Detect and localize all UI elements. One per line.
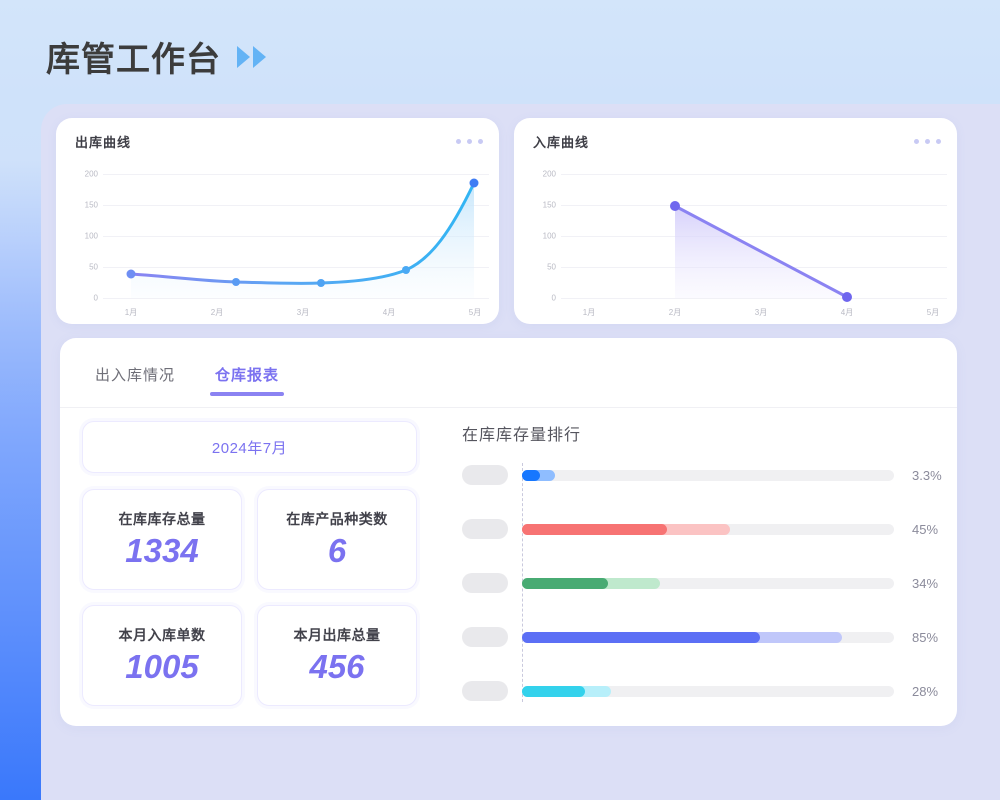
page-title: 库管工作台 (46, 32, 266, 81)
stat-card-product-types[interactable]: 在库产品种类数 6 (257, 489, 417, 590)
stat-label: 本月入库单数 (119, 625, 206, 645)
stat-label: 本月出库总量 (294, 625, 381, 645)
x-tick-2: 2月 (660, 307, 690, 318)
ranking-label-placeholder (462, 519, 508, 539)
double-chevron-right-icon (237, 46, 266, 68)
tab-bar: 出入库情况 仓库报表 (95, 364, 279, 396)
outbound-line-svg (56, 156, 499, 324)
ranking-label-placeholder (462, 681, 508, 701)
ranking-label-placeholder (462, 627, 508, 647)
chart-plot-outbound: 200 150 100 50 0 (56, 156, 499, 324)
left-accent-strip (0, 0, 41, 800)
stat-card-outbound-total[interactable]: 本月出库总量 456 (257, 605, 417, 706)
x-tick-2: 2月 (202, 307, 232, 318)
x-tick-1: 1月 (574, 307, 604, 318)
ranking-bar-solid (522, 470, 540, 481)
ranking-bar-track (522, 578, 894, 589)
report-panel: 出入库情况 仓库报表 2024年7月 在库库存总量 1334 在库产品种类数 6 (60, 338, 957, 726)
dashboard-shell: 出库曲线 200 150 100 50 0 (41, 104, 1000, 800)
ranking-percent: 3.3% (912, 468, 942, 483)
report-left-column: 2024年7月 在库库存总量 1334 在库产品种类数 6 本月入库单数 100… (82, 421, 437, 706)
ranking-bar-solid (522, 632, 760, 643)
ranking-bar-track (522, 524, 894, 535)
ranking-percent: 85% (912, 630, 938, 645)
chart-plot-inbound: 200 150 100 50 0 1月 (514, 156, 957, 324)
stat-card-grid: 在库库存总量 1334 在库产品种类数 6 本月入库单数 1005 本月出库总量… (82, 489, 417, 706)
ranking-bar-solid (522, 524, 667, 535)
ranking-bar-track (522, 632, 894, 643)
stat-value: 1005 (125, 649, 198, 685)
ranking-percent: 28% (912, 684, 938, 699)
stat-card-inbound-orders[interactable]: 本月入库单数 1005 (82, 605, 242, 706)
ranking-label-placeholder (462, 573, 508, 593)
x-tick-4: 4月 (832, 307, 862, 318)
stat-card-total-stock[interactable]: 在库库存总量 1334 (82, 489, 242, 590)
tab-inout-status[interactable]: 出入库情况 (95, 364, 175, 396)
stat-label: 在库产品种类数 (286, 509, 388, 529)
ranking-row[interactable]: 45% (462, 517, 937, 541)
more-dots-icon[interactable] (456, 139, 483, 144)
ranking-bar-solid (522, 578, 608, 589)
ranking-percent: 34% (912, 576, 938, 591)
stat-label: 在库库存总量 (119, 509, 206, 529)
ranking-title: 在库库存量排行 (462, 421, 937, 445)
ranking-bar-solid (522, 686, 585, 697)
stat-value: 456 (309, 649, 364, 685)
chart-title-outbound: 出库曲线 (75, 132, 131, 151)
tab-warehouse-report[interactable]: 仓库报表 (215, 364, 279, 396)
more-dots-icon[interactable] (914, 139, 941, 144)
inventory-ranking-section: 在库库存量排行 3.3% 45% (462, 421, 937, 733)
ranking-label-placeholder (462, 465, 508, 485)
chart-title-inbound: 入库曲线 (533, 132, 589, 151)
x-tick-5: 5月 (460, 307, 490, 318)
tab-divider (60, 407, 957, 408)
x-tick-4: 4月 (374, 307, 404, 318)
ranking-percent: 45% (912, 522, 938, 537)
ranking-bar-track (522, 470, 894, 481)
chart-header-outbound: 出库曲线 (75, 132, 483, 151)
stat-value: 6 (328, 533, 346, 569)
chart-header-inbound: 入库曲线 (533, 132, 941, 151)
inbound-line-svg (514, 156, 957, 324)
ranking-row[interactable]: 85% (462, 625, 937, 649)
stat-value: 1334 (125, 533, 198, 569)
chart-card-outbound: 出库曲线 200 150 100 50 0 (56, 118, 499, 324)
x-tick-1: 1月 (116, 307, 146, 318)
x-tick-5: 5月 (918, 307, 948, 318)
chart-card-inbound: 入库曲线 200 150 100 50 0 (514, 118, 957, 324)
ranking-row[interactable]: 28% (462, 679, 937, 703)
x-tick-3: 3月 (288, 307, 318, 318)
ranking-bar-track (522, 686, 894, 697)
ranking-row[interactable]: 3.3% (462, 463, 937, 487)
x-tick-3: 3月 (746, 307, 776, 318)
date-selector[interactable]: 2024年7月 (82, 421, 417, 473)
ranking-row[interactable]: 34% (462, 571, 937, 595)
page-title-text: 库管工作台 (46, 32, 221, 81)
